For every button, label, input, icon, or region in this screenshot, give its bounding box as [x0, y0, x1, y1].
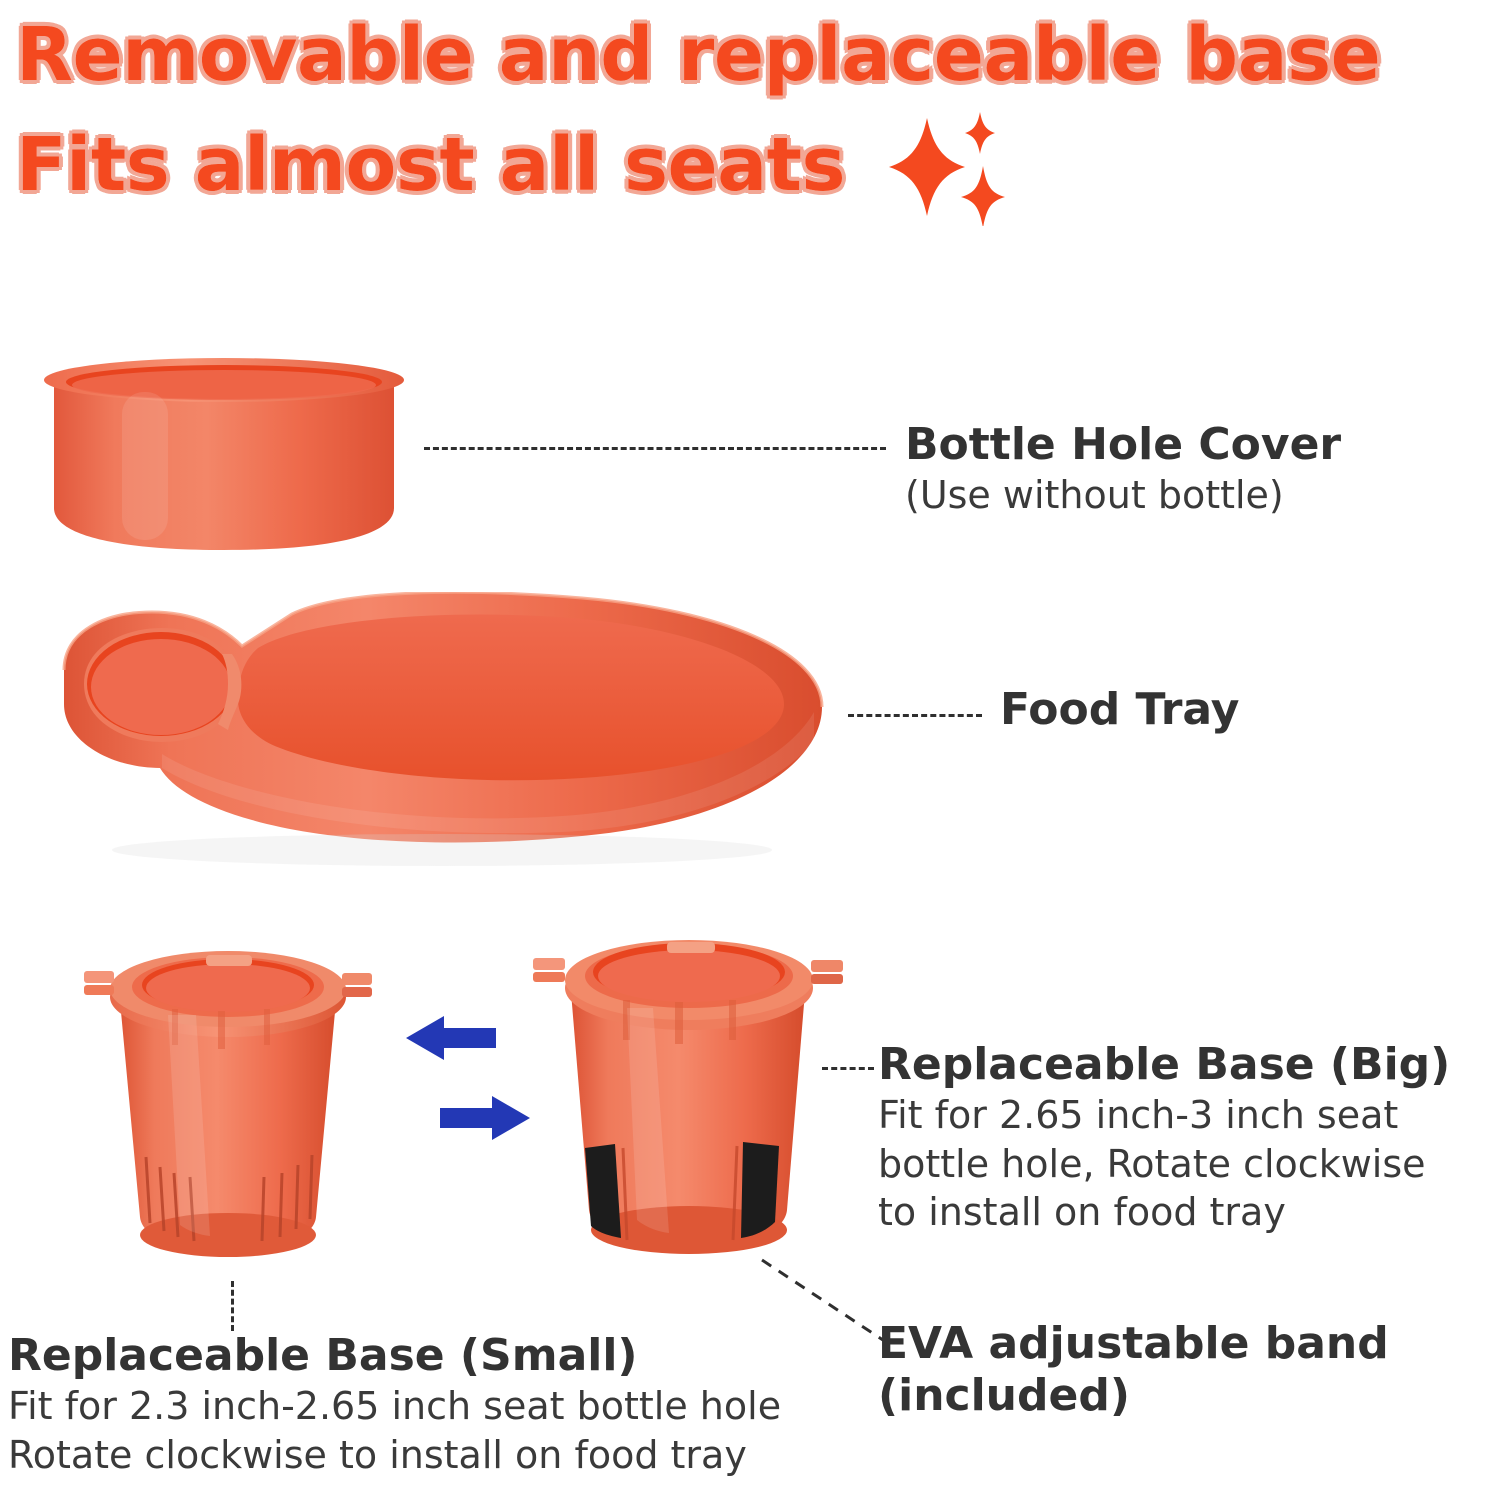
arrow-right-icon — [440, 1096, 530, 1140]
headline-line-2: Fits almost all seats — [16, 116, 845, 214]
eva-band-left — [585, 1144, 621, 1238]
leader-line-base-small — [231, 1281, 234, 1331]
callout-food-tray: Food Tray — [1000, 684, 1239, 736]
callout-base-small-title: Replaceable Base (Small) — [8, 1330, 828, 1382]
callout-base-big-desc-line-2: bottle hole, Rotate clockwise — [878, 1140, 1478, 1189]
callout-eva-band: EVA adjustable band (included) — [878, 1318, 1478, 1422]
callout-bottle-hole-cover: Bottle Hole Cover (Use without bottle) — [905, 419, 1341, 520]
callout-bottle-hole-cover-subtitle: (Use without bottle) — [905, 471, 1341, 520]
headline-block: Removable and replaceable base Fits almo… — [16, 6, 1416, 226]
bottle-hole-cover — [30, 358, 418, 558]
callout-eva-band-title-line-2: (included) — [878, 1370, 1478, 1422]
replaceable-base-small — [68, 905, 388, 1295]
food-tray — [42, 592, 842, 882]
headline-row-2: Fits almost all seats — [16, 104, 1416, 226]
callout-base-small-desc-line-1: Fit for 2.3 inch-2.65 inch seat bottle h… — [8, 1382, 828, 1431]
eva-band-right — [741, 1142, 779, 1238]
arrow-left-icon — [406, 1016, 496, 1060]
callout-eva-band-title-line-1: EVA adjustable band — [878, 1318, 1478, 1370]
callout-base-small-desc-line-2: Rotate clockwise to install on food tray — [8, 1431, 828, 1480]
callout-base-big-desc-line-1: Fit for 2.65 inch-3 inch seat — [878, 1091, 1478, 1140]
leader-line-bottle-cover — [424, 447, 886, 450]
swap-arrows — [404, 1014, 532, 1146]
callout-base-big-desc-line-3: to install on food tray — [878, 1188, 1478, 1237]
callout-base-big-title: Replaceable Base (Big) — [878, 1039, 1478, 1091]
headline-line-1: Removable and replaceable base — [16, 6, 1416, 104]
sparkle-icon — [889, 110, 1005, 226]
callout-base-small: Replaceable Base (Small) Fit for 2.3 inc… — [8, 1330, 828, 1479]
callout-food-tray-title: Food Tray — [1000, 684, 1239, 736]
callout-bottle-hole-cover-title: Bottle Hole Cover — [905, 419, 1341, 471]
replaceable-base-big — [527, 900, 847, 1290]
product-infographic: Removable and replaceable base Fits almo… — [0, 0, 1491, 1500]
leader-line-base-big — [822, 1067, 874, 1070]
leader-line-food-tray — [848, 714, 982, 717]
callout-base-big: Replaceable Base (Big) Fit for 2.65 inch… — [878, 1039, 1478, 1237]
